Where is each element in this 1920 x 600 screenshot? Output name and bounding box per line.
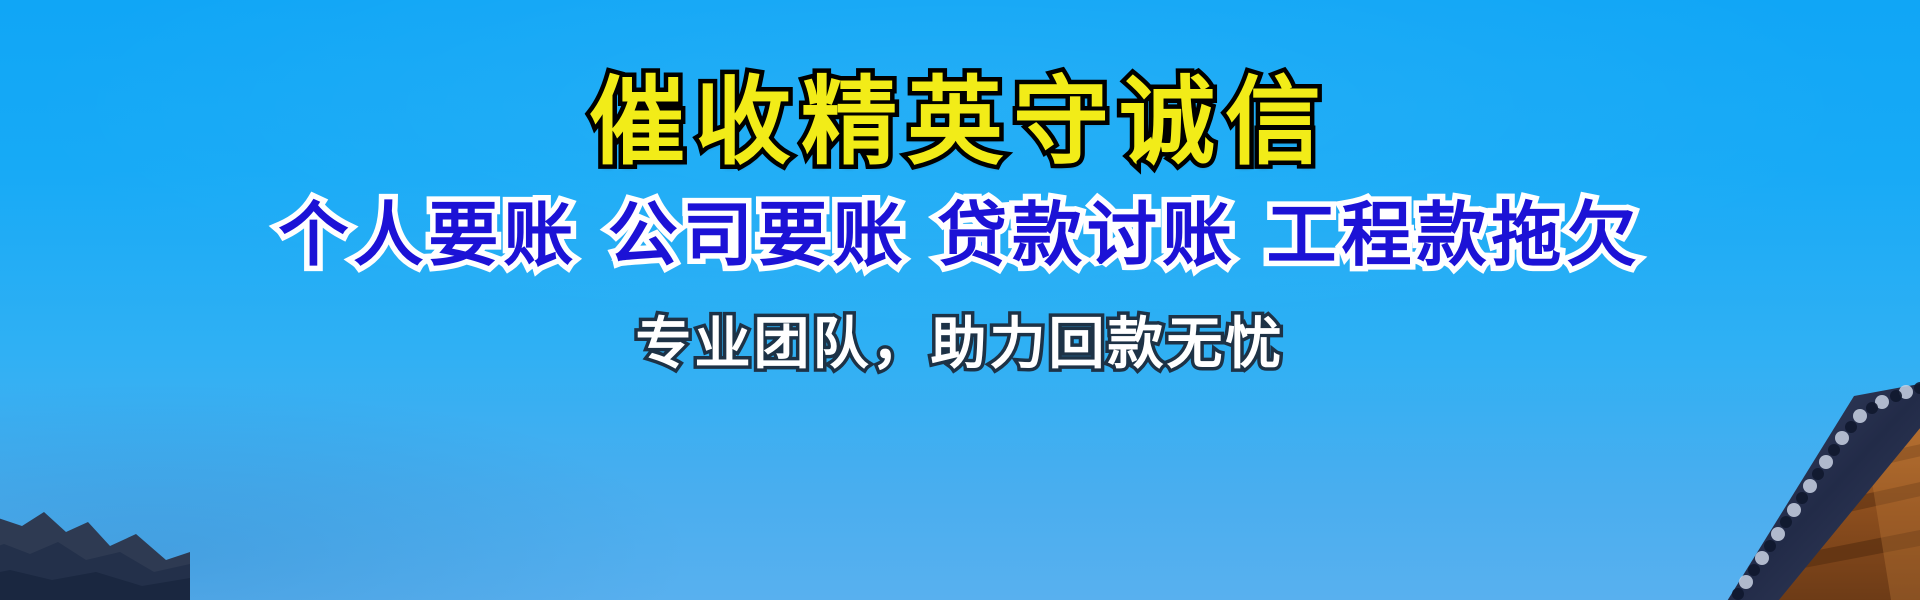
- banner-tagline: 专业团队，助力回款无忧: [636, 316, 1285, 375]
- banner-text-stack: 催收精英守诚信 个人要账 公司要账 贷款讨账 工程款拖欠 专业团队，助力回款无忧: [0, 0, 1920, 600]
- banner-headline: 催收精英守诚信: [589, 72, 1331, 173]
- promo-banner: 催收精英守诚信 个人要账 公司要账 贷款讨账 工程款拖欠 专业团队，助力回款无忧: [0, 0, 1920, 600]
- banner-services-line: 个人要账 公司要账 贷款讨账 工程款拖欠: [278, 199, 1641, 273]
